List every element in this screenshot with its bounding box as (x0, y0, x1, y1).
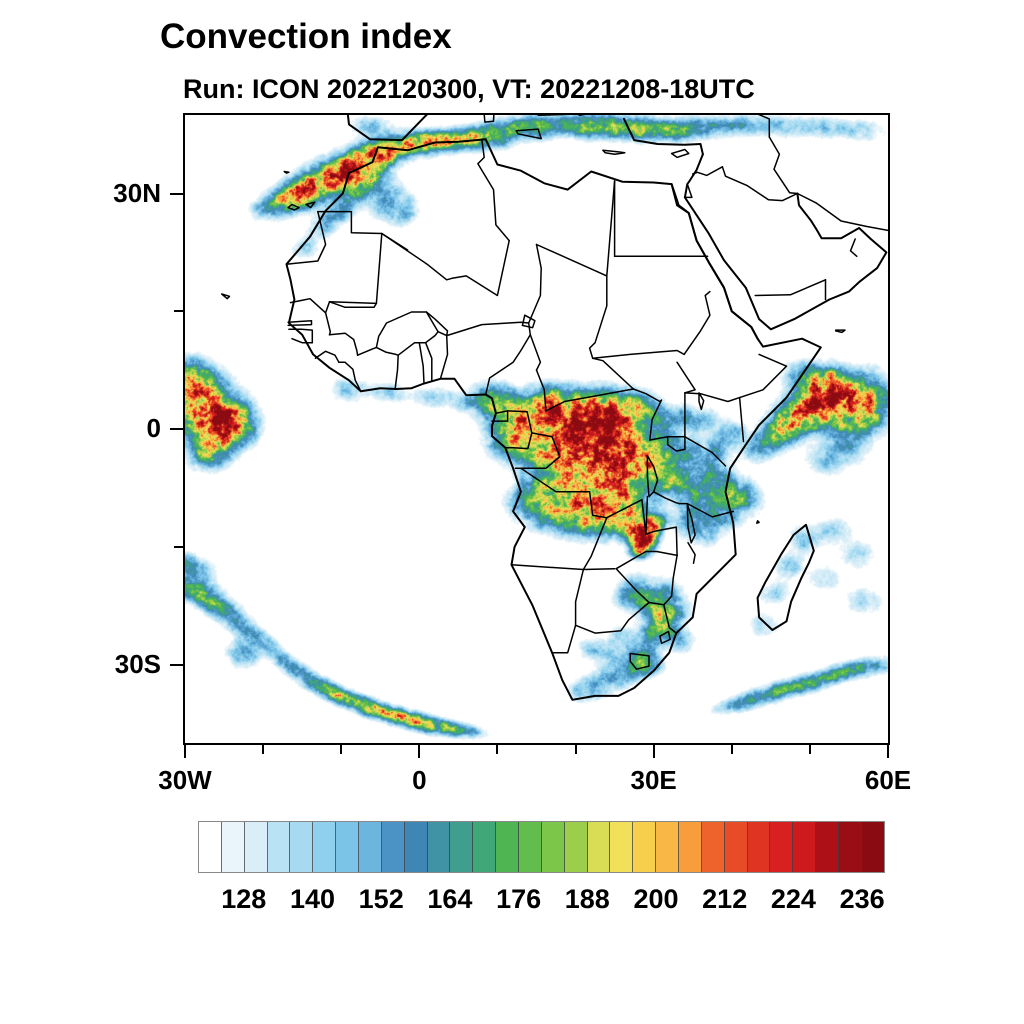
colorbar-cell (268, 822, 291, 872)
border-b_sa_iq (722, 167, 797, 201)
border-b_cd_ss (633, 389, 660, 402)
colorbar-cell (633, 822, 656, 872)
y-axis-label: 0 (0, 413, 161, 444)
border-turkana (699, 393, 704, 410)
x-axis-label: 30E (574, 765, 734, 796)
colorbar-cell (793, 822, 816, 872)
border-b_zm_zw (616, 552, 677, 569)
border-b_ne_td (529, 245, 542, 324)
x-tick-minor (340, 745, 342, 754)
border-b_mw_mz (688, 543, 695, 563)
border-b_gn_ml (330, 333, 358, 355)
border-b_gw (289, 329, 312, 342)
border-b_dz_ml (382, 234, 452, 280)
border-africa_w (287, 139, 821, 700)
border-madeira (284, 172, 289, 174)
border-b_za_mz (664, 605, 677, 633)
border-canaries1 (288, 205, 299, 211)
colorbar-cell (679, 822, 702, 872)
colorbar-cell (519, 822, 542, 872)
border-b_cd_zm (607, 497, 648, 535)
border-b_bj_ng (438, 332, 447, 379)
colorbar-cell (290, 822, 313, 872)
border-crete (603, 150, 625, 154)
colorbar-cell (405, 822, 428, 872)
border-b_gh_ci (395, 355, 398, 389)
colorbar-tick-label: 188 (565, 884, 610, 915)
colorbar-cell (199, 822, 222, 872)
border-b_zw_bw (616, 569, 649, 603)
border-b_gm (288, 321, 311, 326)
border-b_ls (630, 654, 649, 670)
border-canaries2 (306, 202, 315, 208)
border-b_tz_mz (687, 504, 733, 517)
border-europe_s (345, 115, 732, 140)
border-sicily (516, 129, 541, 139)
colorbar-cell (428, 822, 451, 872)
border-tanganyika (647, 456, 657, 497)
y-tick-minor (174, 310, 183, 312)
colorbar-cell (816, 822, 839, 872)
colorbar-cell (748, 822, 771, 872)
colorbar-cell (222, 822, 245, 872)
border-b_iq_ir (769, 137, 797, 194)
colorbar-cell (359, 822, 382, 872)
y-axis-label: 30N (0, 178, 161, 209)
border-b_tz_zm (654, 492, 680, 504)
y-tick-major (170, 428, 183, 430)
x-tick-major (653, 745, 655, 758)
x-tick-edge (887, 745, 889, 758)
border-b_cm_td (530, 335, 540, 370)
border-socotra (836, 330, 845, 332)
country-borders-overlay (185, 115, 888, 743)
border-b_dz_ne (452, 241, 509, 296)
border-b_sl_gn (315, 351, 339, 362)
border-b_libya_ne (607, 181, 615, 276)
border-redsea_w (672, 184, 758, 339)
border-b_ml_mr (326, 234, 382, 313)
border-b_tg_bj (426, 343, 432, 381)
x-axis-label: 30W (105, 765, 265, 796)
border-b_bf (376, 312, 438, 355)
colorbar-tick-label: 164 (427, 884, 472, 915)
border-capeverde (222, 294, 230, 299)
border-b_bw_na (576, 569, 615, 626)
x-tick-minor (575, 745, 577, 754)
border-madagascar (758, 525, 814, 630)
border-b_tz_ug (650, 437, 668, 440)
border-b_om_ae (851, 239, 857, 256)
colorbar-tick-label: 128 (221, 884, 266, 915)
border-b_mr_sn (291, 299, 326, 313)
x-tick-minor (262, 745, 264, 754)
border-b_sn_ml (326, 313, 331, 335)
colorbar-cell (336, 822, 359, 872)
border-b_ng_cm (486, 323, 531, 395)
page-title: Convection index (160, 17, 452, 57)
x-tick-edge (184, 745, 186, 758)
colorbar-cell (245, 822, 268, 872)
border-comoros (757, 521, 759, 523)
colorbar-tick-label: 200 (633, 884, 678, 915)
y-tick-major (170, 664, 183, 666)
colorbar-cell (473, 822, 496, 872)
border-b_et_ke (685, 393, 740, 402)
x-tick-minor (809, 745, 811, 754)
colorbar-cell (450, 822, 473, 872)
border-b_et_so (740, 354, 787, 397)
colorbar-cell (565, 822, 588, 872)
border-b_td_sd (590, 306, 607, 359)
border-b_iran_s (797, 194, 888, 231)
border-b_cm_cf (537, 370, 546, 411)
colorbar-cell (839, 822, 862, 872)
border-b_tr_ir (732, 115, 770, 137)
border-b_cd_ug (650, 400, 662, 440)
colorbar-cell (770, 822, 793, 872)
border-b_ss_et (677, 362, 695, 393)
border-b_ke_so (740, 398, 744, 442)
border-b_ke_tz (685, 437, 726, 466)
border-turkey_s (624, 119, 703, 154)
colorbar-cell (542, 822, 565, 872)
border-b_ma_dz (318, 212, 408, 250)
x-axis-label: 0 (339, 765, 499, 796)
border-sardinia (483, 115, 494, 122)
border-b_cf_cd (546, 389, 634, 411)
border-arabia (685, 194, 887, 330)
colorbar-tick-label: 224 (771, 884, 816, 915)
x-tick-major (418, 745, 420, 758)
x-tick-minor (731, 745, 733, 754)
border-cyprus (672, 150, 689, 158)
border-levant (685, 154, 703, 197)
colorbar[interactable] (198, 821, 885, 873)
run-valid-time-subtitle: Run: ICON 2022120300, VT: 20221208-18UTC (183, 74, 755, 105)
border-b_ng_ne (447, 322, 529, 335)
border-b_zw_mz (664, 555, 677, 604)
border-b_ci_ml (358, 347, 399, 355)
border-victoria (668, 437, 685, 451)
colorbar-cell (382, 822, 405, 872)
map-plot-area (183, 113, 890, 745)
colorbar-cell (656, 822, 679, 872)
colorbar-tick-label: 152 (359, 884, 404, 915)
colorbar-tick-label: 140 (290, 884, 335, 915)
colorbar-cell (588, 822, 611, 872)
border-b_sz (660, 632, 670, 644)
x-axis-label: 60E (808, 765, 968, 796)
y-tick-minor (174, 546, 183, 548)
border-b_sa_ye (755, 280, 825, 296)
border-b_ga_cg (505, 411, 532, 449)
colorbar-cell (496, 822, 519, 872)
colorbar-cell (313, 822, 336, 872)
border-b_ao_na (512, 565, 584, 570)
border-b_ss_sd (593, 351, 684, 359)
figure-root: Convection index Run: ICON 2022120300, V… (0, 0, 1024, 1024)
border-b_bw_za (576, 603, 649, 634)
border-b_ly_td (537, 245, 607, 306)
colorbar-tick-label: 212 (702, 884, 747, 915)
colorbar-cell (725, 822, 748, 872)
colorbar-cell (610, 822, 633, 872)
border-b_cd_ao (521, 468, 607, 517)
border-b_na_za (552, 625, 576, 652)
colorbar-cell (702, 822, 725, 872)
colorbar-tick-label: 236 (840, 884, 885, 915)
border-malawi (687, 504, 695, 543)
border-b_cg_cd (515, 433, 560, 468)
border-b_gh_tg (419, 343, 424, 384)
border-b_cf_sd (593, 358, 634, 389)
colorbar-tick-label: 176 (496, 884, 541, 915)
colorbar-cell (862, 822, 884, 872)
border-b_sd_et (684, 292, 710, 355)
y-tick-major (170, 193, 183, 195)
border-b_ao_zm (583, 518, 606, 570)
border-b_zw_za (649, 603, 664, 605)
x-tick-minor (496, 745, 498, 754)
y-axis-label: 30S (0, 649, 161, 680)
